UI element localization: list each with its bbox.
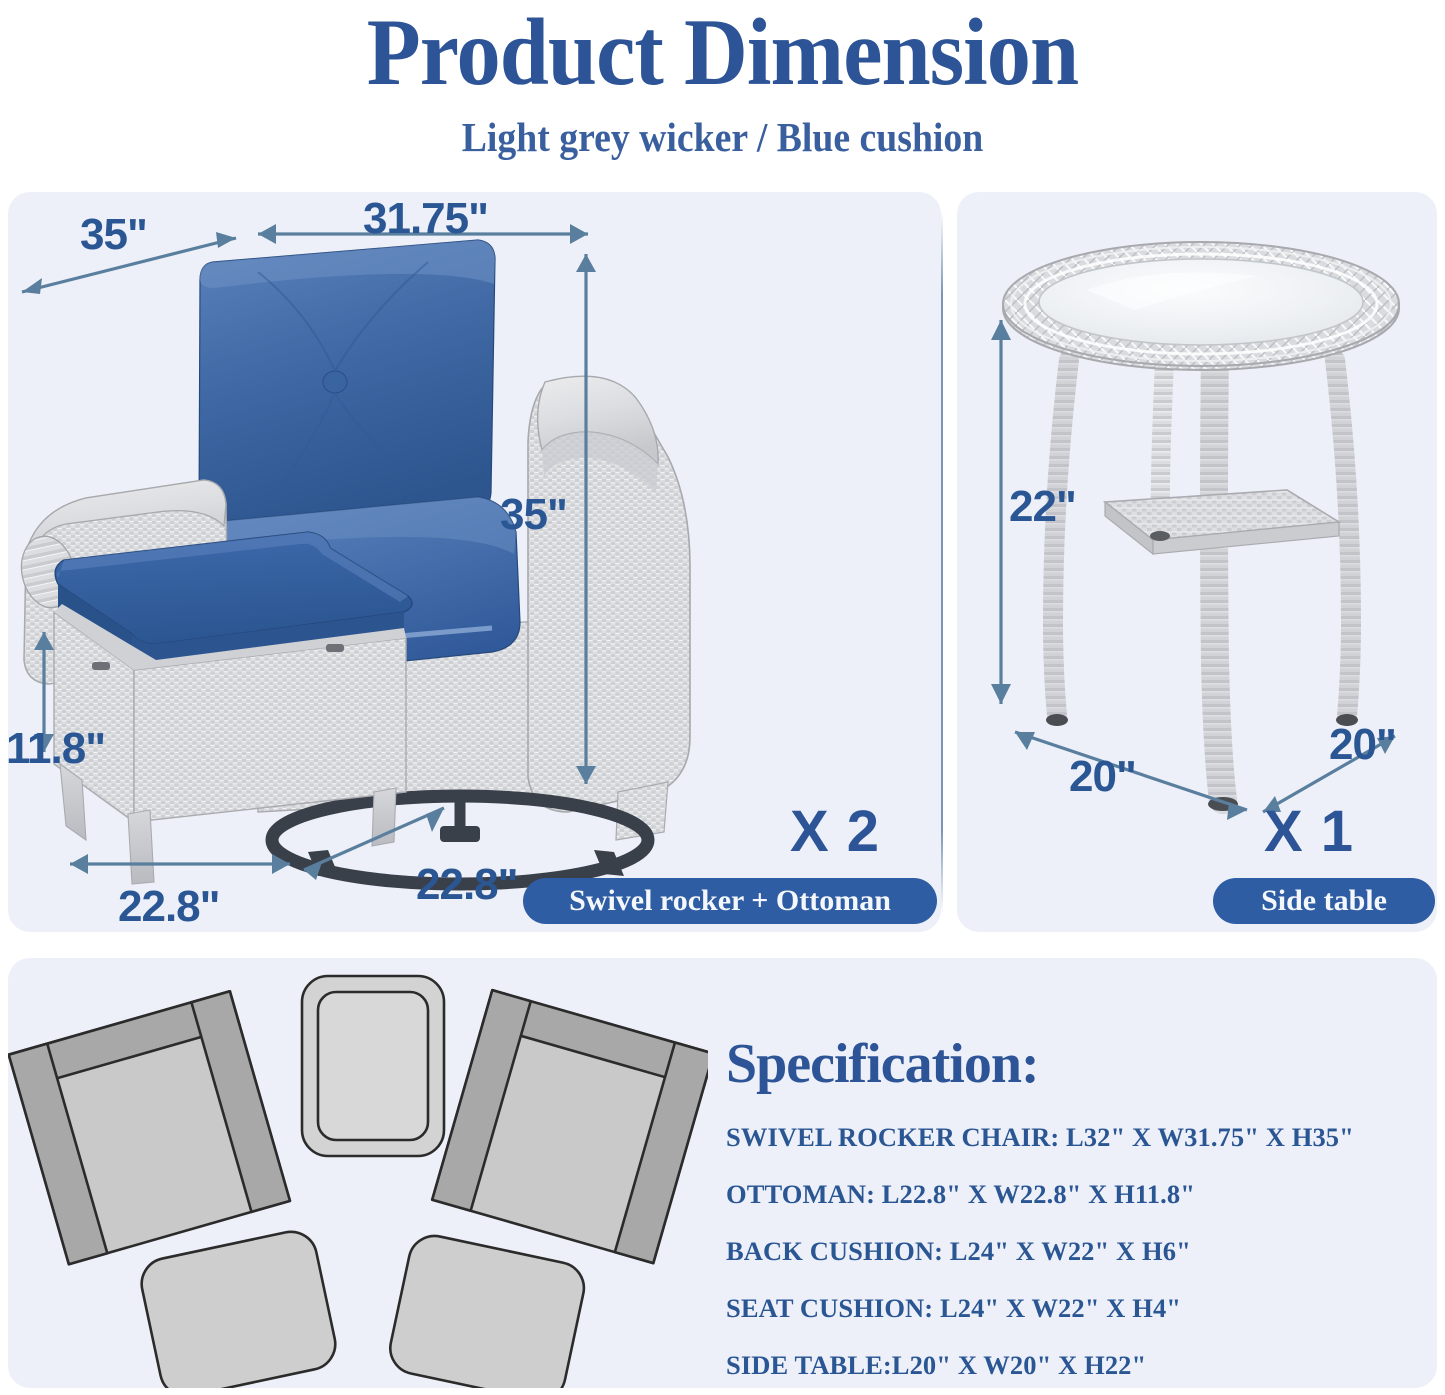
dim-ottoman-depth: 22.8" — [416, 860, 518, 910]
page-subtitle: Light grey wicker / Blue cushion — [58, 113, 1387, 161]
dim-chair-depth: 35" — [80, 210, 147, 260]
table-set-count: X 1 — [1264, 798, 1354, 865]
spec-line-seat-cushion: SEAT CUSHION: L24" X W22" X H4" — [726, 1293, 1426, 1324]
spec-line-back-cushion: BACK CUSHION: L24" X W22" X H6" — [726, 1236, 1426, 1267]
spec-line-side-table: SIDE TABLE:L20" X W20" X H22" — [726, 1350, 1426, 1381]
dim-table-depth-right: 20" — [1329, 720, 1396, 770]
specification-block: Specification: SWIVEL ROCKER CHAIR: L32"… — [726, 1032, 1426, 1388]
badge-side-table: Side table — [1213, 878, 1435, 924]
badge-swivel-rocker-ottoman: Swivel rocker + Ottoman — [523, 878, 937, 924]
specification-heading: Specification: — [726, 1032, 1426, 1096]
dim-ottoman-width: 22.8" — [118, 882, 220, 932]
layout-chair-right — [432, 990, 708, 1263]
layout-ottoman-right — [385, 1231, 588, 1388]
page-header: Product Dimension Light grey wicker / Bl… — [0, 0, 1445, 161]
layout-ottoman-left — [137, 1227, 340, 1388]
spec-line-swivel-rocker-chair: SWIVEL ROCKER CHAIR: L32" X W31.75" X H3… — [726, 1122, 1426, 1153]
dim-table-width-left: 20" — [1069, 752, 1136, 802]
dim-ottoman-height: 11.8" — [8, 724, 105, 774]
spec-line-ottoman: OTTOMAN: L22.8" X W22.8" X H11.8" — [726, 1179, 1426, 1210]
page-title: Product Dimension — [51, 4, 1395, 101]
side-table-panel: 22" 20" 20" — [957, 192, 1437, 932]
top-down-layout-diagram — [8, 958, 708, 1388]
dim-chair-height: 35" — [500, 490, 567, 540]
layout-chair-left — [9, 991, 290, 1264]
dim-table-height: 22" — [1009, 482, 1076, 532]
layout-side-table-center — [302, 976, 444, 1156]
chair-set-count: X 2 — [790, 798, 880, 865]
layout-specification-panel: Specification: SWIVEL ROCKER CHAIR: L32"… — [8, 958, 1437, 1388]
side-table-illustration — [957, 192, 1437, 932]
dim-chair-width: 31.75" — [363, 194, 488, 244]
panel-separator — [941, 210, 943, 915]
